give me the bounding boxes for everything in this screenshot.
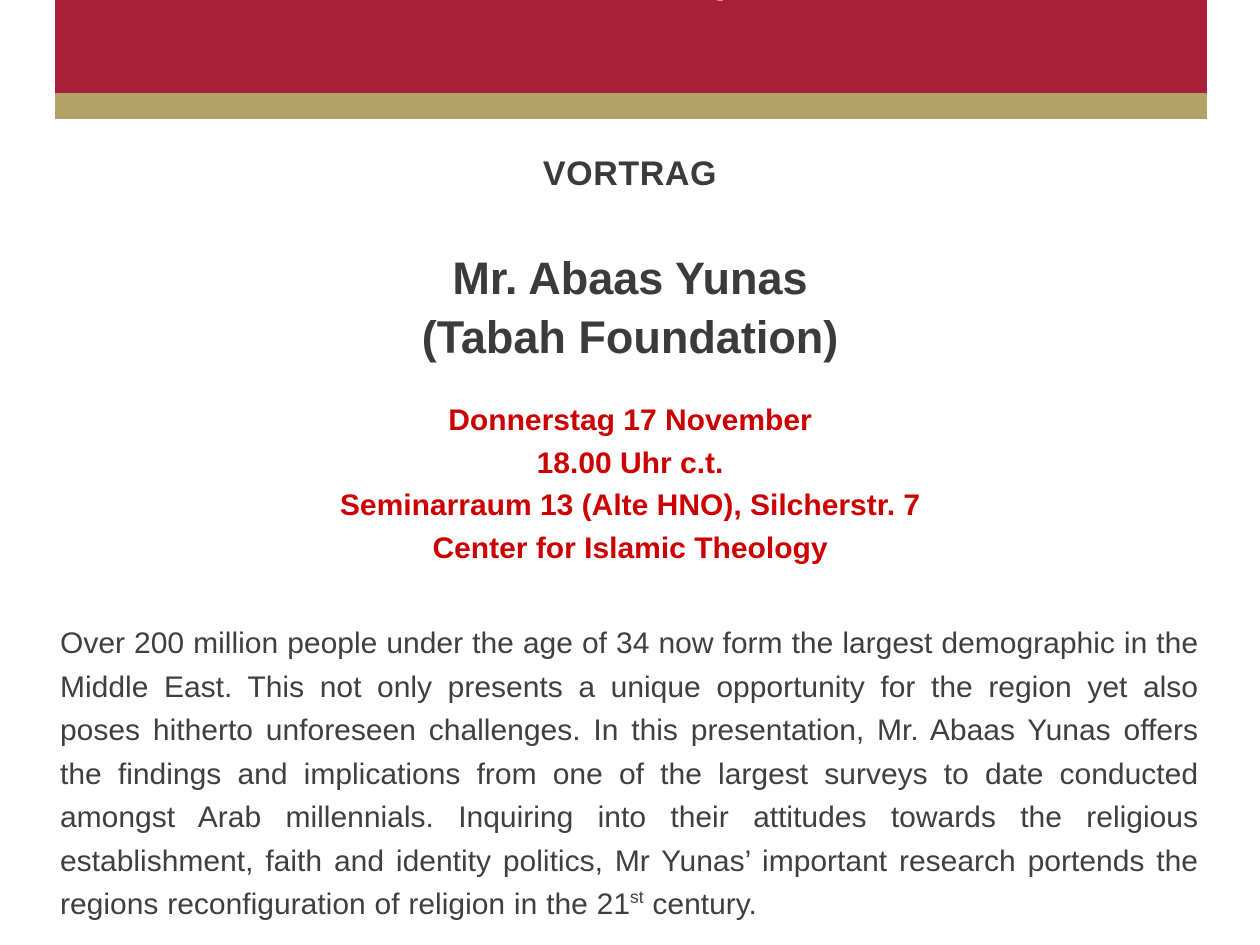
speaker-affiliation: (Tabah Foundation) [0,309,1260,368]
section-heading-vortrag: VORTRAG [0,155,1260,194]
event-details-block: Donnerstag 17 November 18.00 Uhr c.t. Se… [0,400,1260,570]
speaker-name: Mr. Abaas Yunas [0,250,1260,309]
banner-title: Leadership [523,0,740,2]
event-date: Donnerstag 17 November [0,400,1260,443]
banner-red-block: Leadership [55,0,1207,93]
abstract-text-tail: century. [644,888,757,921]
abstract-ordinal-suffix: st [630,887,644,907]
abstract-paragraph: Over 200 million people under the age of… [60,622,1198,927]
poster-page: Leadership VORTRAG Mr. Abaas Yunas (Taba… [0,0,1260,945]
abstract-text-main: Over 200 million people under the age of… [60,627,1198,921]
event-room: Seminarraum 13 (Alte HNO), Silcherstr. 7 [0,485,1260,528]
banner-gold-bar [55,93,1207,119]
event-time: 18.00 Uhr c.t. [0,443,1260,486]
speaker-block: Mr. Abaas Yunas (Tabah Foundation) [0,250,1260,368]
event-institution: Center for Islamic Theology [0,528,1260,571]
header-banner: Leadership [55,0,1207,93]
